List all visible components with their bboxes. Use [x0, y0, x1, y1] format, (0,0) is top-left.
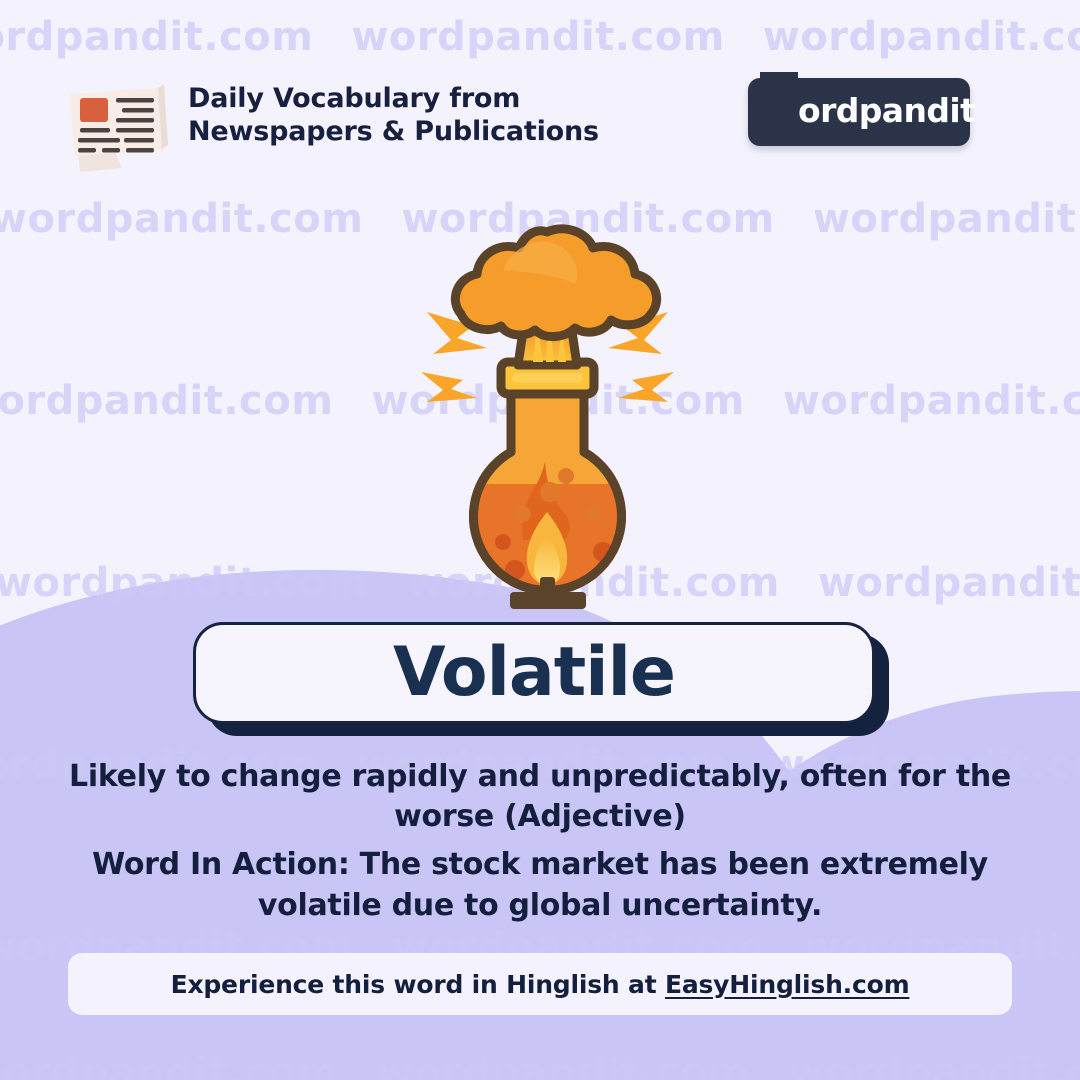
- bookmark-icon: [760, 72, 798, 134]
- word-card: Volatile: [193, 622, 893, 740]
- exploding-flask-illustration: [415, 222, 680, 622]
- newspaper-icon: [58, 72, 174, 178]
- wordpandit-logo[interactable]: ordpandit: [748, 78, 970, 146]
- explosion-cloud-icon: [455, 229, 656, 337]
- header-title: Daily Vocabulary from Newspapers & Publi…: [188, 82, 599, 148]
- header-title-line1: Daily Vocabulary from: [188, 82, 599, 115]
- word-in-action: Word In Action: The stock market has bee…: [55, 844, 1025, 926]
- header-title-line2: Newspapers & Publications: [188, 115, 599, 148]
- word-definition: Likely to change rapidly and unpredictab…: [40, 757, 1040, 837]
- logo-label: ordpandit: [798, 91, 975, 130]
- footer-bar[interactable]: Experience this word in Hinglish at Easy…: [68, 953, 1012, 1015]
- vocabulary-word: Volatile: [393, 639, 675, 707]
- footer-prefix: Experience this word in Hinglish at: [171, 970, 665, 999]
- header: Daily Vocabulary from Newspapers & Publi…: [0, 60, 1080, 180]
- word-card-body: Volatile: [193, 622, 875, 724]
- poster-canvas: wordpandit.comwordpandit.comwordpandit.c…: [0, 0, 1080, 1080]
- footer-text: Experience this word in Hinglish at Easy…: [171, 970, 910, 999]
- easyhinglish-link[interactable]: EasyHinglish.com: [665, 970, 909, 999]
